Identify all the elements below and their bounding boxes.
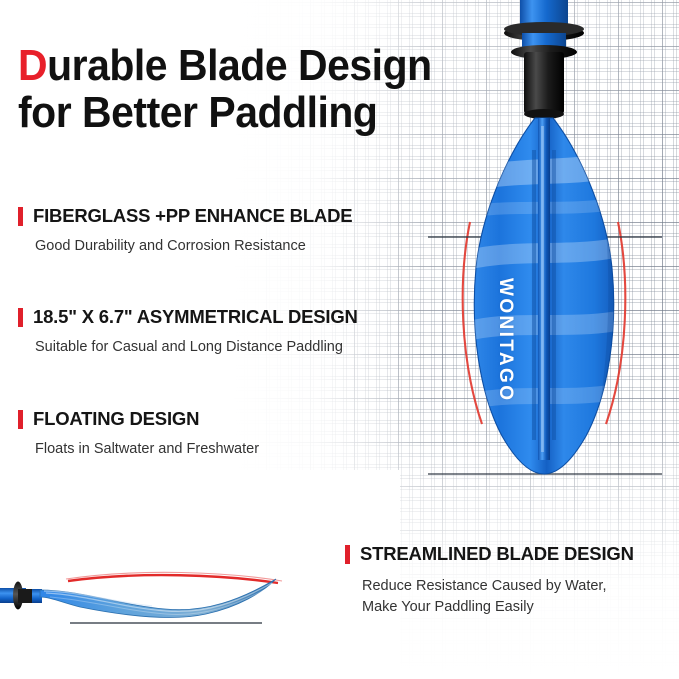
feature-heading-row: FLOATING DESIGN: [18, 408, 410, 430]
feature-item-streamlined: STREAMLINED BLADE DESIGN Reduce Resistan…: [345, 543, 675, 618]
page-title-accent-letter: D: [18, 41, 47, 90]
feature-subtitle: Suitable for Casual and Long Distance Pa…: [35, 337, 410, 358]
feature-subtitle-line: Make Your Paddling Easily: [362, 597, 675, 618]
feature-heading-row: STREAMLINED BLADE DESIGN: [345, 543, 675, 565]
feature-heading-row: 18.5" X 6.7" ASYMMETRICAL DESIGN: [18, 306, 410, 328]
feature-item-asymmetrical: 18.5" X 6.7" ASYMMETRICAL DESIGN Suitabl…: [18, 306, 410, 358]
red-bullet-icon: [345, 545, 350, 564]
infographic-canvas: WONITAGO: [0, 0, 679, 679]
paddle-blade-front-illustration: [410, 0, 679, 500]
feature-item-fiberglass: FIBERGLASS +PP ENHANCE BLADE Good Durabi…: [18, 205, 410, 257]
feature-title: FLOATING DESIGN: [33, 408, 199, 430]
red-bullet-icon: [18, 410, 23, 429]
feature-subtitle: Floats in Saltwater and Freshwater: [35, 439, 410, 460]
red-bullet-icon: [18, 207, 23, 226]
feature-title: 18.5" X 6.7" ASYMMETRICAL DESIGN: [33, 306, 358, 328]
feature-title: STREAMLINED BLADE DESIGN: [360, 543, 634, 565]
brand-wordmark: WONITAGO: [494, 278, 516, 402]
paddle-blade-profile-illustration: [0, 545, 340, 665]
feature-subtitle-line: Reduce Resistance Caused by Water,: [362, 576, 675, 597]
feature-subtitle-line: Suitable for Casual and Long Distance Pa…: [35, 337, 410, 358]
feature-subtitle-line: Floats in Saltwater and Freshwater: [35, 439, 410, 460]
page-title-line-2: for Better Paddling: [18, 89, 390, 136]
page-title: Durable Blade Design for Better Paddling: [18, 42, 390, 136]
feature-heading-row: FIBERGLASS +PP ENHANCE BLADE: [18, 205, 410, 227]
page-title-line-1: Durable Blade Design: [18, 42, 390, 89]
feature-item-floating: FLOATING DESIGN Floats in Saltwater and …: [18, 408, 410, 460]
red-bullet-icon: [18, 308, 23, 327]
feature-subtitle: Reduce Resistance Caused by Water, Make …: [362, 576, 675, 618]
feature-title: FIBERGLASS +PP ENHANCE BLADE: [33, 205, 352, 227]
page-title-line-1-rest: urable Blade Design: [47, 41, 432, 90]
feature-subtitle-line: Good Durability and Corrosion Resistance: [35, 236, 410, 257]
profile-ferrule: [18, 589, 34, 603]
ferrule-sleeve: [524, 52, 564, 114]
feature-subtitle: Good Durability and Corrosion Resistance: [35, 236, 410, 257]
